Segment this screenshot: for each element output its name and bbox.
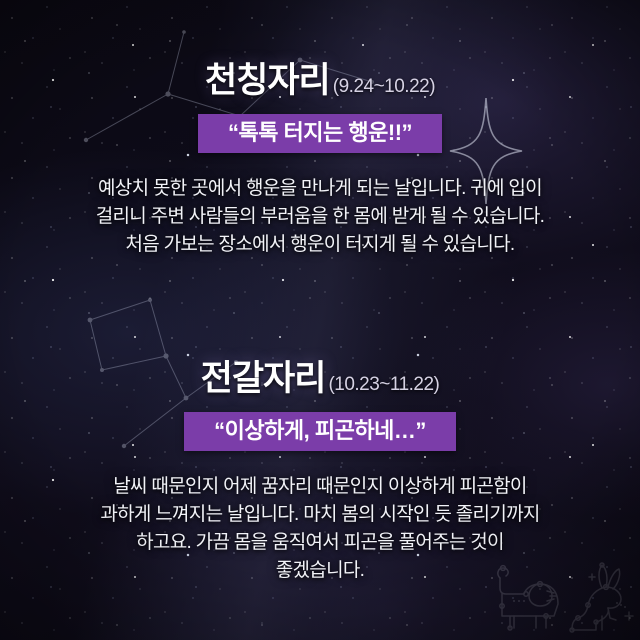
fortune-line: 과하게 느껴지는 날입니다. 마치 봄의 시작인 듯 졸리기까지 — [22, 501, 618, 529]
sign-section-scorpio: 전갈자리 (10.23~11.22) “이상하게, 피곤하네…” 날씨 때문인지… — [0, 350, 640, 585]
sign-header: 전갈자리 (10.23~11.22) — [0, 350, 640, 401]
sign-section-libra: 천칭자리 (9.24~10.22) “톡톡 터지는 행운!!” 예상치 못한 곳… — [0, 52, 640, 259]
fortune-line: 날씨 때문인지 어제 꿈자리 때문인지 이상하게 피곤함이 — [22, 473, 618, 501]
fortune-line: 예상치 못한 곳에서 행운을 만나게 되는 날입니다. 귀에 입이 — [22, 175, 618, 203]
horoscope-card: 천칭자리 (9.24~10.22) “톡톡 터지는 행운!!” 예상치 못한 곳… — [0, 0, 640, 640]
sign-name: 천칭자리 — [205, 52, 330, 103]
sign-dates: (10.23~11.22) — [328, 374, 439, 398]
fortune-text: 예상치 못한 곳에서 행운을 만나게 되는 날입니다. 귀에 입이 걸리니 주변… — [0, 175, 640, 259]
fortune-text: 날씨 때문인지 어제 꿈자리 때문인지 이상하게 피곤함이 과하게 느껴지는 날… — [0, 473, 640, 585]
fortune-line: 걸리니 주변 사람들의 부러움을 한 몸에 받게 될 수 있습니다. — [22, 203, 618, 231]
sign-header: 천칭자리 (9.24~10.22) — [0, 52, 640, 103]
sign-name: 전갈자리 — [201, 350, 326, 401]
sign-dates: (9.24~10.22) — [333, 76, 435, 100]
slogan-banner: “톡톡 터지는 행운!!” — [198, 114, 442, 153]
fortune-line: 좋겠습니다. — [22, 557, 618, 585]
fortune-line: 처음 가보는 장소에서 행운이 터지게 될 수 있습니다. — [22, 231, 618, 259]
slogan-banner: “이상하게, 피곤하네…” — [184, 412, 456, 451]
fortune-line: 하고요. 가끔 몸을 움직여서 피곤을 풀어주는 것이 — [22, 529, 618, 557]
